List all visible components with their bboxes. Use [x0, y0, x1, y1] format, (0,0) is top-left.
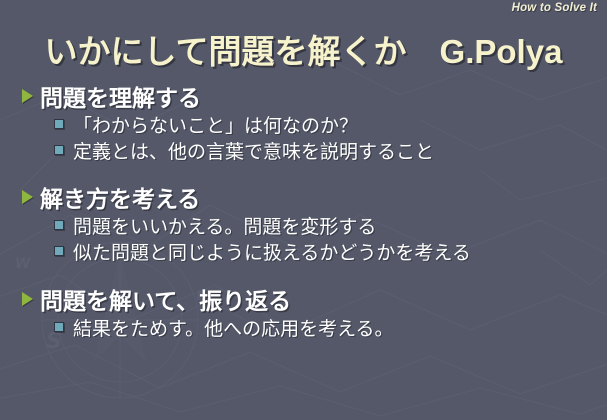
section-2: 解き方を考える 問題をいいかえる。問題を変形する 似た問題と同じように扱えるかど…: [0, 187, 607, 264]
slide-body: 問題を理解する 「わからないこと」は何なのか？ 定義とは、他の言葉で意味を説明す…: [0, 86, 607, 342]
list-item-label: 結果をためす。他への応用を考える。: [73, 319, 394, 341]
list-item: 結果をためす。他への応用を考える。: [0, 319, 607, 341]
list-item: 定義とは、他の言葉で意味を説明すること: [0, 142, 607, 164]
section-heading-2: 解き方を考える: [0, 187, 607, 213]
section-heading-label: 問題を理解する: [40, 86, 201, 112]
section-1: 問題を理解する 「わからないこと」は何なのか？ 定義とは、他の言葉で意味を説明す…: [0, 86, 607, 163]
square-bullet-icon: [54, 322, 64, 332]
square-bullet-icon: [54, 145, 64, 155]
triangle-right-icon: [22, 292, 33, 306]
list-item: 「わからないこと」は何なのか？: [0, 116, 607, 138]
triangle-right-icon: [22, 89, 33, 103]
square-bullet-icon: [54, 119, 64, 129]
list-item: 似た問題と同じように扱えるかどうかを考える: [0, 243, 607, 265]
list-item-label: 問題をいいかえる。問題を変形する: [73, 217, 376, 239]
list-item-label: 似た問題と同じように扱えるかどうかを考える: [73, 243, 471, 265]
page-title: いかにして問題を解くか G.Polya: [0, 25, 607, 73]
presentation-slide: S W m How to Solve It いかにして問題を解くか G.Poly…: [0, 0, 607, 420]
section-heading-label: 解き方を考える: [40, 187, 200, 213]
list-item-label: 定義とは、他の言葉で意味を説明すること: [73, 142, 434, 164]
section-spacer: [0, 165, 607, 187]
triangle-right-icon: [22, 190, 33, 204]
list-item-label: 「わからないこと」は何なのか？: [73, 116, 358, 138]
square-bullet-icon: [54, 220, 64, 230]
list-item: 問題をいいかえる。問題を変形する: [0, 217, 607, 239]
section-heading-3: 問題を解いて、振り返る: [0, 289, 607, 315]
section-heading-1: 問題を理解する: [0, 86, 607, 112]
header-note: How to Solve It: [512, 2, 597, 14]
square-bullet-icon: [54, 246, 64, 256]
section-spacer: [0, 267, 607, 289]
section-3: 問題を解いて、振り返る 結果をためす。他への応用を考える。: [0, 289, 607, 341]
section-heading-label: 問題を解いて、振り返る: [40, 289, 291, 315]
